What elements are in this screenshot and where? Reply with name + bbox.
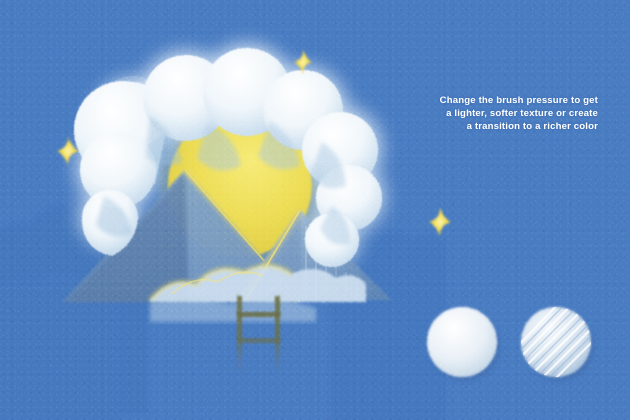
sphere-stroke-texture [512, 300, 596, 388]
caption-line-1: Change the brush pressure to get [358, 94, 598, 107]
ladder-rung [237, 312, 280, 317]
ladder-rung [237, 338, 280, 343]
star-right [429, 208, 451, 236]
caption-line-2: a lighter, softer texture or create [358, 107, 598, 120]
illustration-canvas: Change the brush pressure to get a light… [0, 0, 630, 420]
caption-line-3: a transition to a richer color [358, 120, 598, 133]
ladder-rail-left [237, 296, 242, 372]
caption-text: Change the brush pressure to get a light… [358, 94, 598, 134]
ladder-rail-right [275, 296, 280, 372]
artwork [0, 0, 630, 420]
